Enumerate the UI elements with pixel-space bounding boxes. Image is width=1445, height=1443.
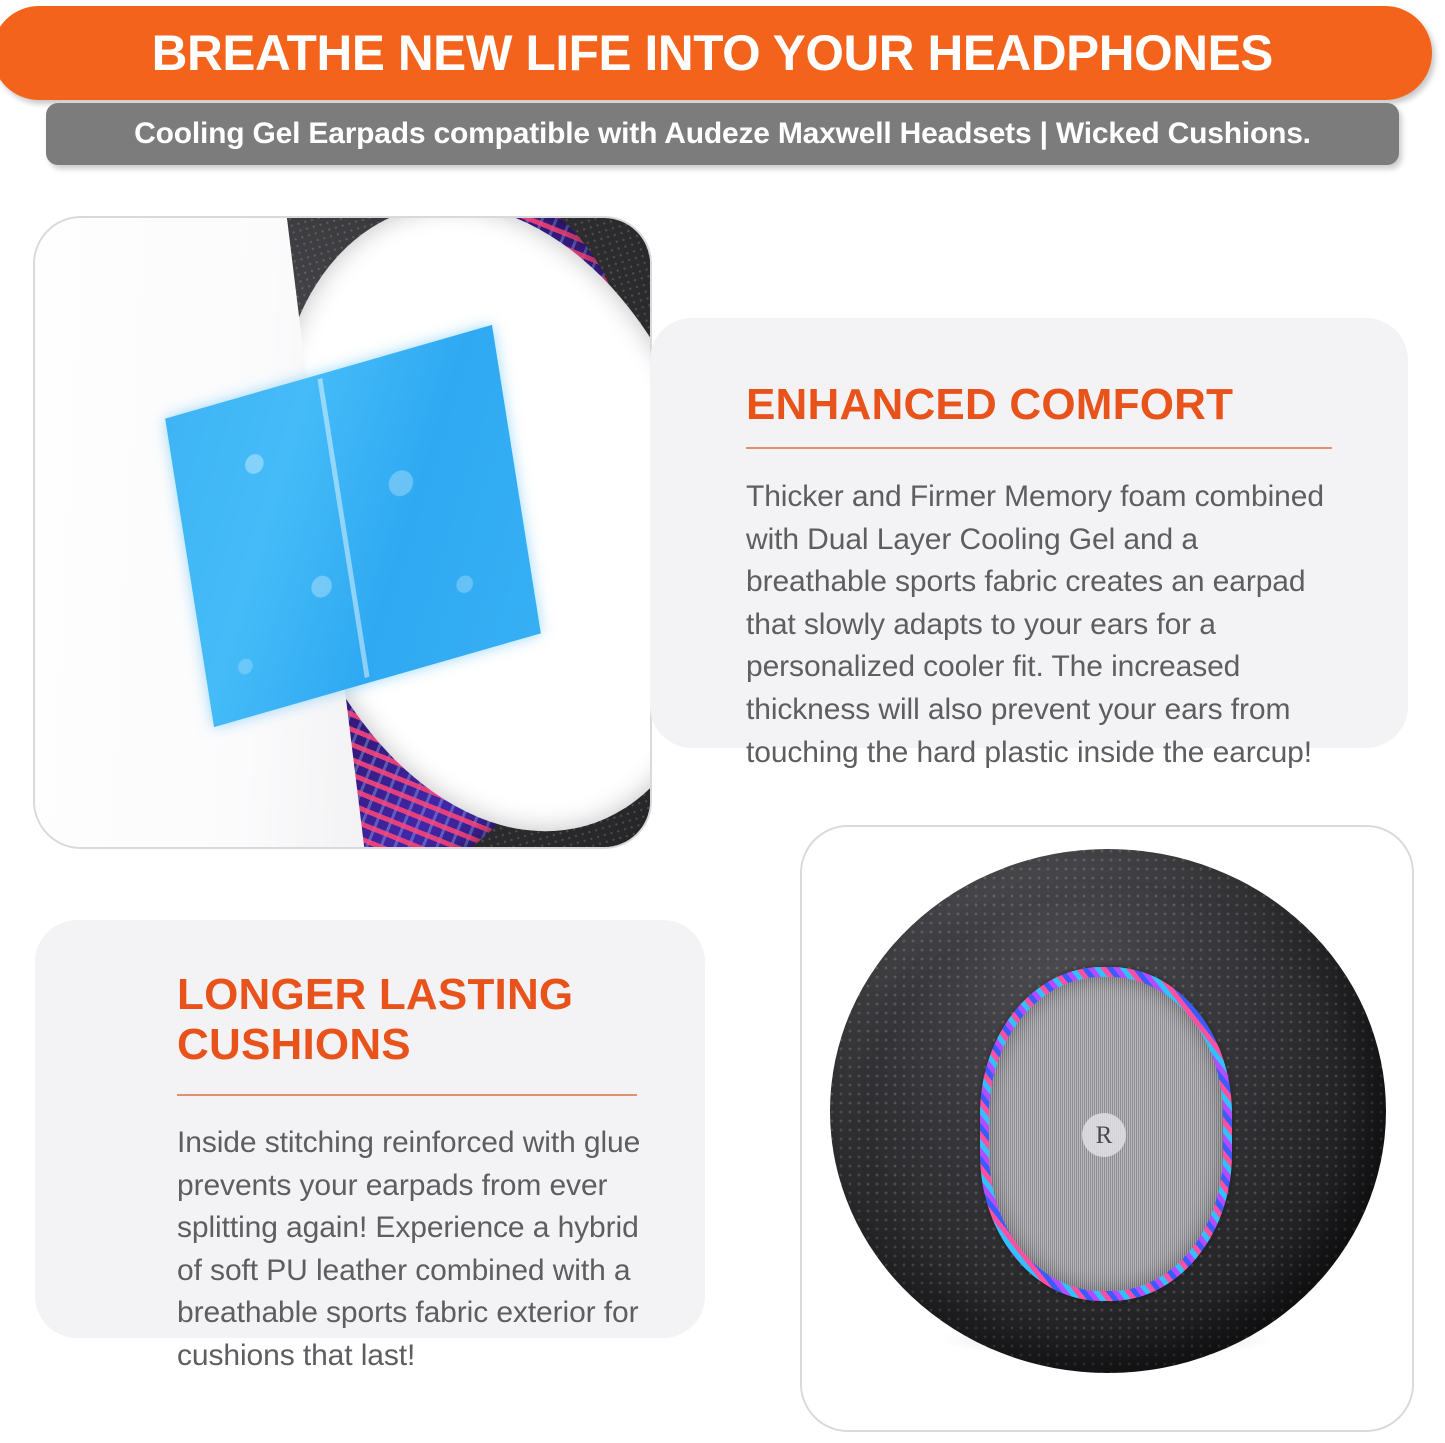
feature-panel-enhanced-comfort: ENHANCED COMFORT Thicker and Firmer Memo… (650, 318, 1408, 748)
feature-divider-enhanced-comfort (746, 447, 1332, 449)
feature-heading-enhanced-comfort: ENHANCED COMFORT (746, 380, 1233, 430)
page-title: BREATHE NEW LIFE INTO YOUR HEADPHONES (151, 28, 1272, 78)
gel-cross-section-photo-card (33, 216, 652, 849)
feature-heading-longer-lasting-cushions: LONGER LASTING CUSHIONS (177, 970, 657, 1070)
feature-panel-longer-lasting-cushions: LONGER LASTING CUSHIONS Inside stitching… (35, 920, 705, 1338)
earpad-front-photo-card: R (800, 825, 1414, 1432)
feature-body-longer-lasting-cushions: Inside stitching reinforced with glue pr… (177, 1122, 651, 1378)
header-block: BREATHE NEW LIFE INTO YOUR HEADPHONES Co… (0, 0, 1445, 185)
feature-body-enhanced-comfort: Thicker and Firmer Memory foam combined … (746, 476, 1346, 774)
feature-divider-longer-lasting-cushions (177, 1094, 637, 1096)
subtitle-banner: Cooling Gel Earpads compatible with Aude… (46, 103, 1399, 165)
page-subtitle: Cooling Gel Earpads compatible with Aude… (134, 117, 1311, 151)
earpad-side-marker: R (1082, 1113, 1126, 1157)
title-banner: BREATHE NEW LIFE INTO YOUR HEADPHONES (0, 6, 1432, 100)
gel-cross-section-image (35, 218, 650, 847)
earpad-front-image: R (802, 827, 1412, 1430)
